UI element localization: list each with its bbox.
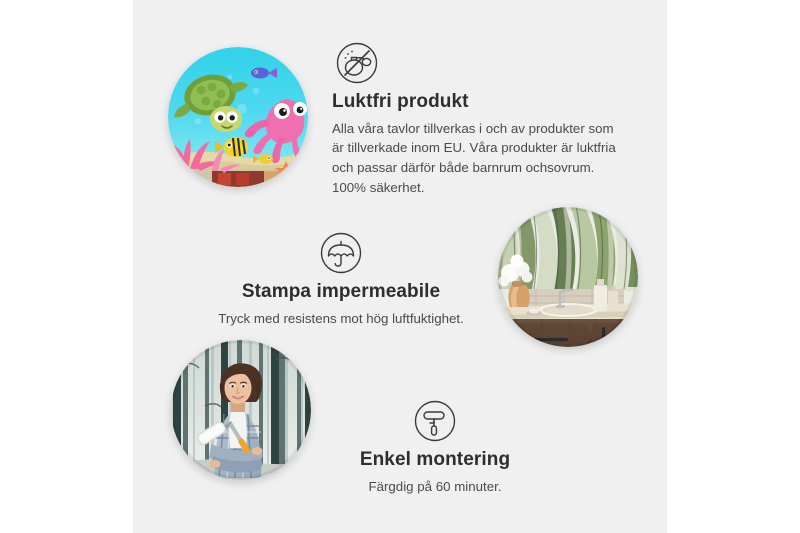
woman-with-paint-roller-forest-wallpaper-photo xyxy=(171,340,311,480)
feature-title: Stampa impermeabile xyxy=(196,280,486,304)
feature-title: Enkel montering xyxy=(305,448,565,472)
feature-odourless: Luktfri produkt Alla våra tavlor tillver… xyxy=(332,40,624,197)
underwater-cartoon-sea-life-photo xyxy=(168,47,308,187)
feature-easy-mounting: Enkel montering Färgdig på 60 minuter. xyxy=(305,398,565,496)
bathroom-botanical-wallpaper-photo xyxy=(498,207,638,347)
paint-roller-icon xyxy=(412,398,458,444)
feature-waterproof: Stampa impermeabile Tryck med resistens … xyxy=(196,230,486,328)
feature-description: Alla våra tavlor tillverkas i och av pro… xyxy=(332,119,624,198)
umbrella-waterproof-icon xyxy=(318,230,364,276)
promo-graphic: Luktfri produkt Alla våra tavlor tillver… xyxy=(0,0,800,533)
feature-description: Tryck med resistens mot hög luftfuktighe… xyxy=(196,309,486,329)
feature-title: Luktfri produkt xyxy=(332,90,624,114)
no-odour-spray-bottle-icon xyxy=(334,40,380,86)
feature-description: Färgdig på 60 minuter. xyxy=(305,477,565,497)
